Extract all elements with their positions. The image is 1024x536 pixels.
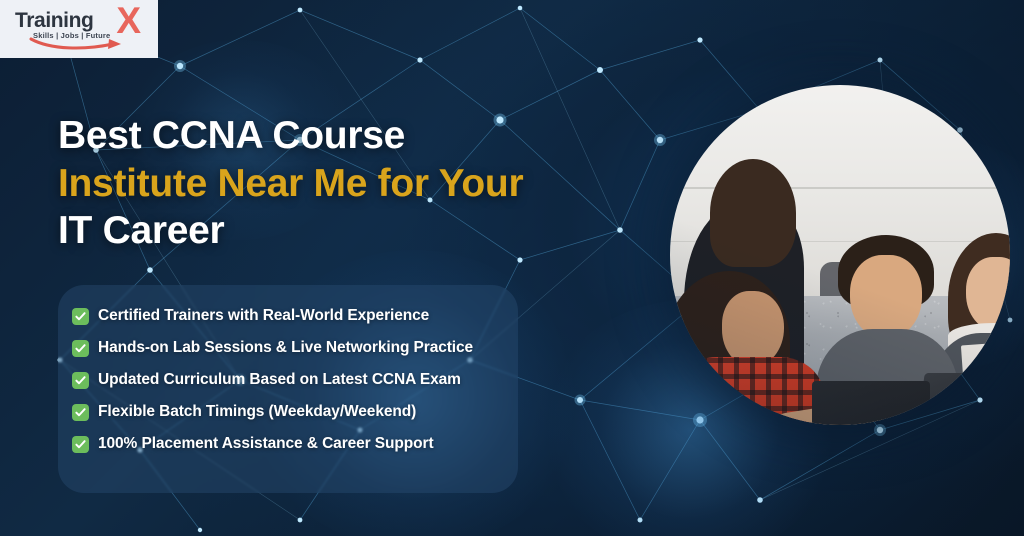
feature-label: Flexible Batch Timings (Weekday/Weekend) [98, 403, 416, 421]
green-check-icon [72, 340, 89, 357]
green-check-icon [72, 436, 89, 453]
feature-label: 100% Placement Assistance & Career Suppo… [98, 435, 434, 453]
feature-label: Hands-on Lab Sessions & Live Networking … [98, 339, 473, 357]
headline-line-2: Institute Near Me for Your [58, 160, 523, 208]
feature-label: Certified Trainers with Real-World Exper… [98, 307, 429, 325]
feature-item: 100% Placement Assistance & Career Suppo… [72, 435, 498, 453]
headline-line-3: IT Career [58, 207, 523, 255]
brand-accent-letter: X [116, 2, 141, 39]
students-photo [670, 85, 1010, 425]
feature-item: Hands-on Lab Sessions & Live Networking … [72, 339, 498, 357]
brand-logo[interactable]: Training X Skills | Jobs | Future [0, 0, 158, 58]
green-check-icon [72, 372, 89, 389]
red-arrow-icon [29, 37, 129, 51]
feature-item: Certified Trainers with Real-World Exper… [72, 307, 498, 325]
hero-banner: Training X Skills | Jobs | Future [0, 0, 1024, 536]
features-panel: Certified Trainers with Real-World Exper… [58, 285, 518, 493]
page-title: Best CCNA Course Institute Near Me for Y… [58, 112, 523, 255]
brand-name: Training [15, 9, 93, 33]
feature-item: Updated Curriculum Based on Latest CCNA … [72, 371, 498, 389]
feature-label: Updated Curriculum Based on Latest CCNA … [98, 371, 461, 389]
green-check-icon [72, 404, 89, 421]
green-check-icon [72, 308, 89, 325]
feature-item: Flexible Batch Timings (Weekday/Weekend) [72, 403, 498, 421]
photo-shading [670, 85, 1010, 425]
headline-line-1: Best CCNA Course [58, 112, 523, 160]
